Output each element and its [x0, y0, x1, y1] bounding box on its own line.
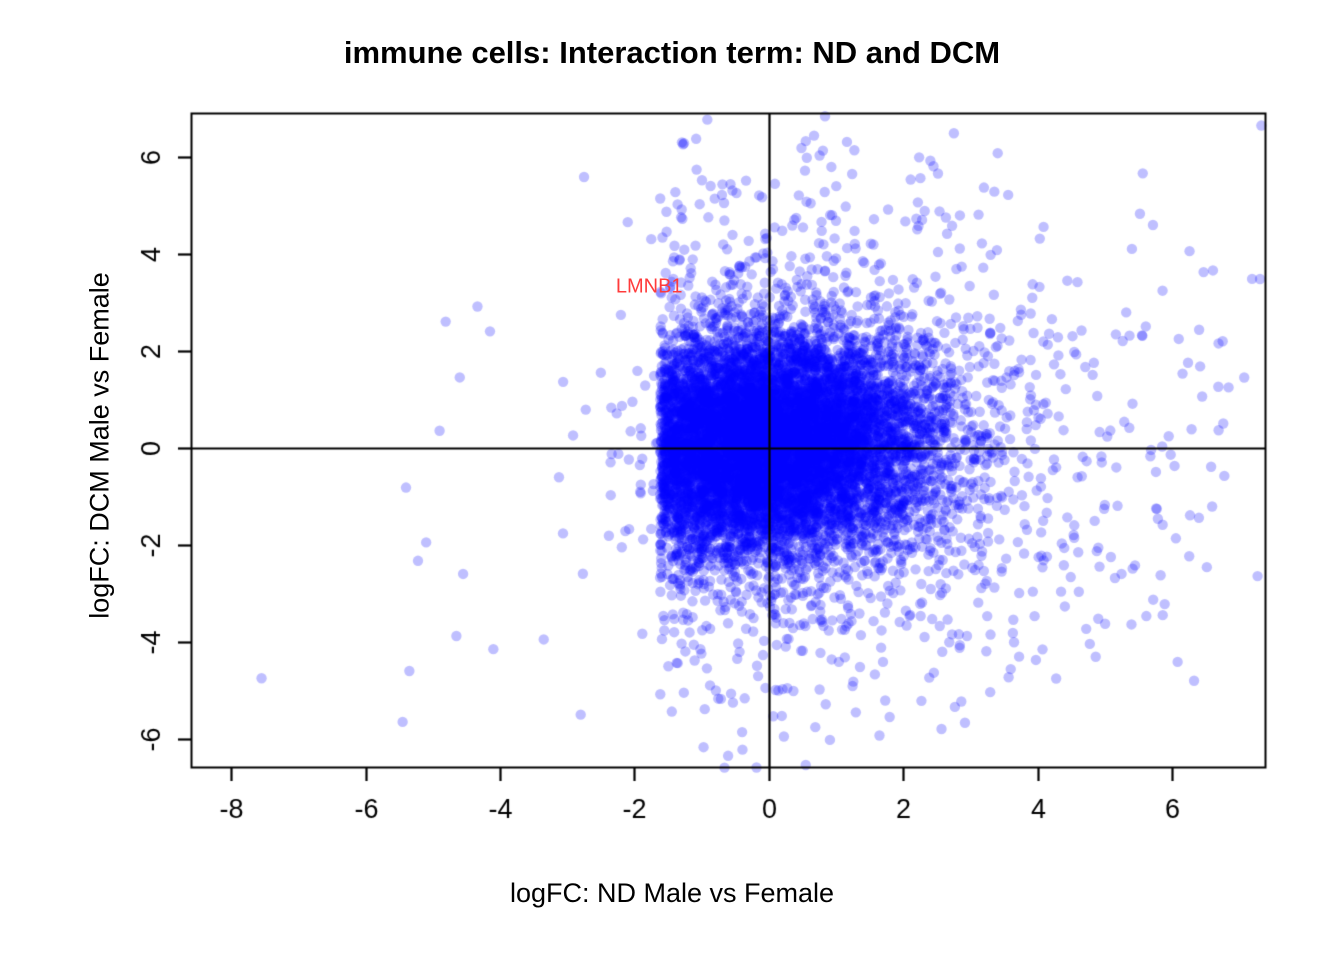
scatter-plot-figure: immune cells: Interaction term: ND and D…	[0, 0, 1344, 960]
y-axis-label: logFC: DCM Male vs Female	[85, 46, 116, 846]
scatter-canvas	[0, 0, 1344, 960]
plot-canvas-area	[0, 0, 1344, 960]
x-axis-label: logFC: ND Male vs Female	[0, 878, 1344, 909]
gene-annotation-lmnb1: LMNB1	[616, 275, 683, 298]
